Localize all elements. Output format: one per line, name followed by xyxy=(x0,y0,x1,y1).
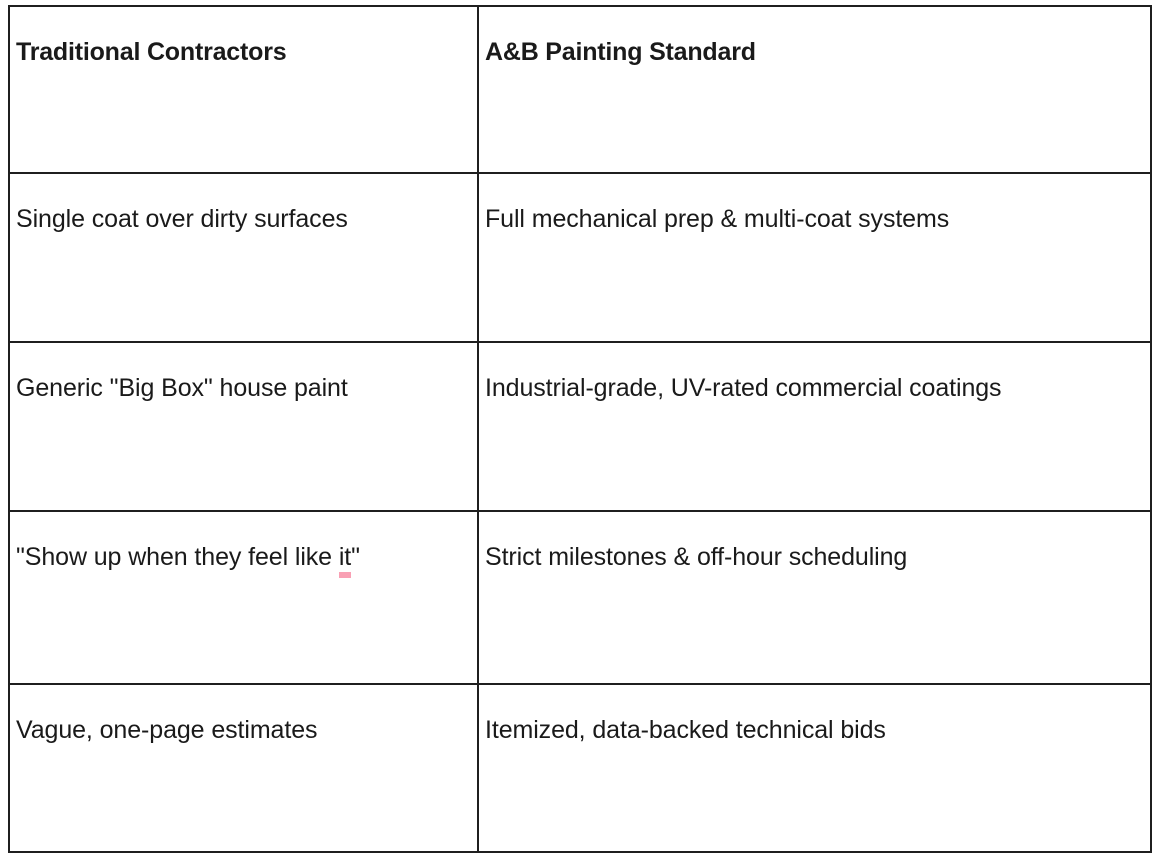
cell-traditional: Generic "Big Box" house paint xyxy=(9,342,478,511)
spellcheck-marked-word: it xyxy=(339,542,351,572)
cell-text: Full mechanical prep & multi-coat system… xyxy=(485,205,949,233)
cell-standard: Full mechanical prep & multi-coat system… xyxy=(478,173,1151,342)
table-header: Traditional Contractors A&B Painting Sta… xyxy=(9,6,1151,173)
cell-traditional: Single coat over dirty surfaces xyxy=(9,173,478,342)
cell-text: Vague, one-page estimates xyxy=(16,716,317,744)
cell-text: Strict milestones & off-hour scheduling xyxy=(485,543,907,571)
table-body: Single coat over dirty surfaces Full mec… xyxy=(9,173,1151,852)
cell-text: Itemized, data-backed technical bids xyxy=(485,716,886,744)
cell-text-marked-word: it xyxy=(339,543,351,571)
column-header-ab-painting-standard: A&B Painting Standard xyxy=(478,6,1151,173)
cell-traditional: Vague, one-page estimates xyxy=(9,684,478,852)
column-header-label: A&B Painting Standard xyxy=(485,38,756,66)
table-header-row: Traditional Contractors A&B Painting Sta… xyxy=(9,6,1151,173)
cell-text: Generic "Big Box" house paint xyxy=(16,374,348,402)
column-header-label: Traditional Contractors xyxy=(16,38,286,66)
spellcheck-underline-icon xyxy=(339,572,351,578)
table-row: Vague, one-page estimates Itemized, data… xyxy=(9,684,1151,852)
page-root: Traditional Contractors A&B Painting Sta… xyxy=(0,0,1158,854)
cell-traditional: "Show up when they feel like it" xyxy=(9,511,478,684)
cell-standard: Industrial-grade, UV-rated commercial co… xyxy=(478,342,1151,511)
cell-standard: Strict milestones & off-hour scheduling xyxy=(478,511,1151,684)
cell-standard: Itemized, data-backed technical bids xyxy=(478,684,1151,852)
cell-text-suffix: " xyxy=(351,543,360,571)
table-row: "Show up when they feel like it" Strict … xyxy=(9,511,1151,684)
cell-text: Industrial-grade, UV-rated commercial co… xyxy=(485,374,1001,402)
cell-text: Single coat over dirty surfaces xyxy=(16,205,348,233)
cell-text-prefix: "Show up when they feel like xyxy=(16,543,339,571)
column-header-traditional-contractors: Traditional Contractors xyxy=(9,6,478,173)
table-row: Single coat over dirty surfaces Full mec… xyxy=(9,173,1151,342)
table-row: Generic "Big Box" house paint Industrial… xyxy=(9,342,1151,511)
comparison-table: Traditional Contractors A&B Painting Sta… xyxy=(8,5,1152,853)
